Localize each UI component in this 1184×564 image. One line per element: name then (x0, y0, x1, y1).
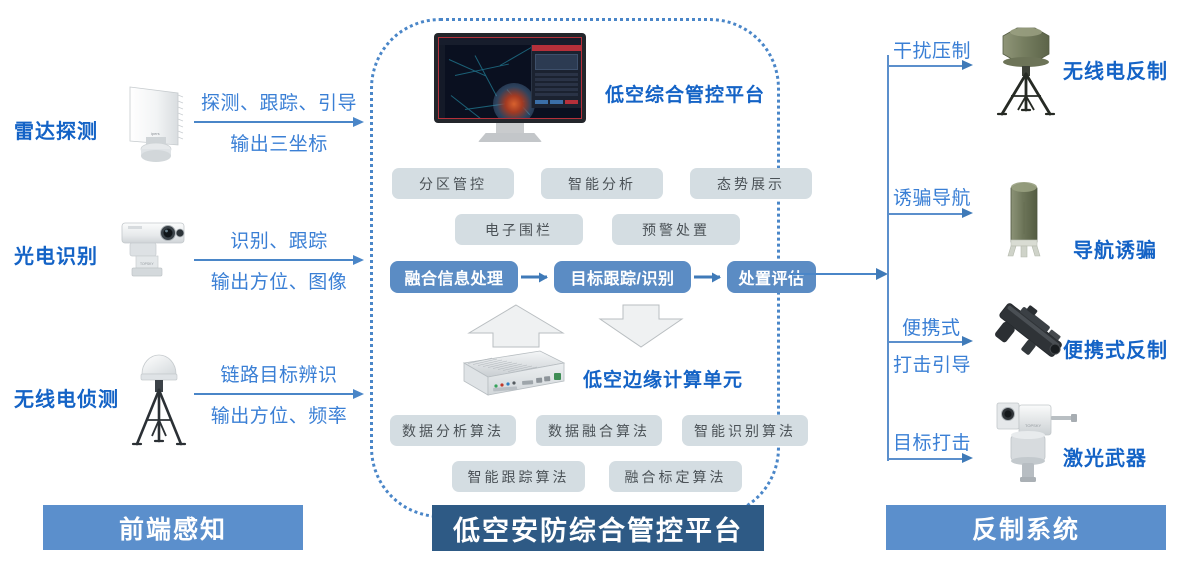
branch-line-3 (888, 458, 964, 460)
capability-pill-2[interactable]: 态势展示 (690, 168, 812, 199)
banner-front-end-sensing: 前端感知 (43, 505, 303, 550)
flow-radio: 链路目标辨识 输出方位、频率 (194, 360, 364, 428)
screen-side-panel (531, 45, 581, 108)
flow-radar-arrowhead (353, 117, 364, 127)
capability-pill-4[interactable]: 预警处置 (612, 214, 740, 245)
flow-radar-bottom: 输出三坐标 (194, 129, 364, 156)
spoofer-cylinder-icon (993, 172, 1055, 262)
process-box-1[interactable]: 目标跟踪/识别 (554, 261, 691, 293)
countermeasure-trunk-line (887, 55, 889, 461)
flow-radar-top: 探测、跟踪、引导 (194, 88, 364, 115)
banner-platform: 低空安防综合管控平台 (432, 505, 764, 551)
jammer-tripod-icon (985, 20, 1063, 120)
countermeasure-label-1: 导航诱骗 (1073, 234, 1157, 263)
platform-bottom-heading: 低空边缘计算单元 (583, 365, 743, 392)
monitor-icon (434, 33, 586, 143)
process-box-2[interactable]: 处置评估 (727, 261, 816, 293)
countermeasure-label-0: 无线电反制 (1063, 55, 1168, 84)
monitor-bezel (434, 33, 586, 123)
eo-camera-icon: TOPSKY (110, 215, 196, 287)
algorithm-pill-2[interactable]: 智能识别算法 (682, 415, 808, 446)
portable-gun-icon (986, 296, 1072, 378)
algorithm-pill-3[interactable]: 智能跟踪算法 (452, 461, 585, 492)
screen-topbar (439, 38, 581, 45)
countermeasure-label-3: 激光武器 (1063, 442, 1147, 471)
process-arrow-0 (521, 276, 547, 279)
flow-eo-top: 识别、跟踪 (194, 226, 364, 253)
branch-label-0: 干扰压制 (893, 36, 971, 63)
screen-radar-overlay (493, 83, 535, 119)
sensor-label-eo: 光电识别 (14, 240, 98, 269)
monitor-base (478, 133, 542, 142)
monitor-screen (438, 37, 582, 119)
branch-arrowhead-2 (962, 336, 973, 346)
flow-radar: 探测、跟踪、引导 输出三坐标 (194, 88, 364, 156)
banner-countermeasure-system: 反制系统 (886, 505, 1166, 550)
sensor-label-radio: 无线电侦测 (14, 383, 119, 412)
branch-label-1: 诱骗导航 (893, 183, 971, 210)
block-arrow-up-icon (466, 303, 566, 349)
branch-line-2 (888, 341, 964, 343)
architecture-diagram: 雷达探测 ipers 探测、跟踪、引导 (0, 0, 1184, 564)
flow-eo-bottom: 输出方位、图像 (194, 267, 364, 294)
process-arrow-1 (694, 276, 720, 279)
radar-panel-icon: ipers (120, 85, 192, 167)
capability-pill-1[interactable]: 智能分析 (541, 168, 663, 199)
flow-radio-arrowhead (353, 389, 364, 399)
countermeasure-label-2: 便携式反制 (1063, 334, 1168, 363)
platform-to-countermeasure-line (790, 273, 878, 275)
algorithm-pill-0[interactable]: 数据分析算法 (390, 415, 516, 446)
svg-text:ipers: ipers (151, 131, 160, 136)
svg-text:TOPSKY: TOPSKY (1025, 423, 1041, 428)
svg-text:TOPSKY: TOPSKY (140, 262, 154, 266)
flow-radar-line (194, 121, 354, 123)
flow-eo-line (194, 259, 354, 261)
branch-label-2-bottom: 打击引导 (893, 350, 971, 377)
algorithm-pill-4[interactable]: 融合标定算法 (609, 461, 742, 492)
platform-top-heading: 低空综合管控平台 (605, 80, 765, 107)
flow-radio-bottom: 输出方位、频率 (194, 401, 364, 428)
flow-eo: 识别、跟踪 输出方位、图像 (194, 226, 364, 294)
flow-eo-arrowhead (353, 255, 364, 265)
branch-label-2-top: 便携式 (902, 313, 961, 340)
branch-line-0 (888, 65, 964, 67)
flow-radio-line (194, 393, 354, 395)
branch-label-3: 目标打击 (893, 428, 971, 455)
edge-compute-box-icon (444, 345, 568, 407)
algorithm-pill-1[interactable]: 数据融合算法 (536, 415, 662, 446)
block-arrow-down-icon (597, 303, 685, 349)
laser-weapon-icon: TOPSKY (983, 395, 1079, 487)
radio-dome-tripod-icon (122, 340, 196, 450)
sensor-label-radar: 雷达探测 (14, 115, 98, 144)
process-box-0[interactable]: 融合信息处理 (390, 261, 518, 293)
capability-pill-0[interactable]: 分区管控 (392, 168, 514, 199)
flow-radio-top: 链路目标辨识 (194, 360, 364, 387)
branch-line-1 (888, 213, 964, 215)
capability-pill-3[interactable]: 电子围栏 (455, 214, 583, 245)
